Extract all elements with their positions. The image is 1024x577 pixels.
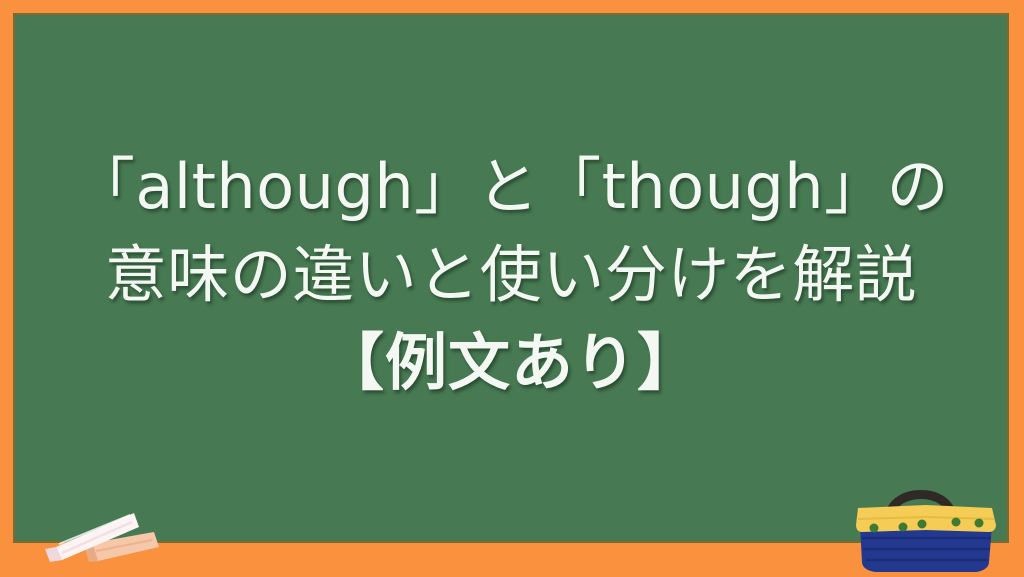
chalkboard-surface bbox=[15, 15, 1007, 541]
basket-body bbox=[860, 526, 992, 572]
basket-lid-right bbox=[926, 505, 996, 532]
basket-lid-left bbox=[856, 505, 926, 532]
thumbnail-card: 「although」と「though」の 意味の違いと使い分けを解説 【例文あり… bbox=[0, 0, 1024, 577]
chalk-sticks-illustration bbox=[26, 485, 186, 577]
tool-basket-illustration bbox=[846, 472, 1006, 577]
